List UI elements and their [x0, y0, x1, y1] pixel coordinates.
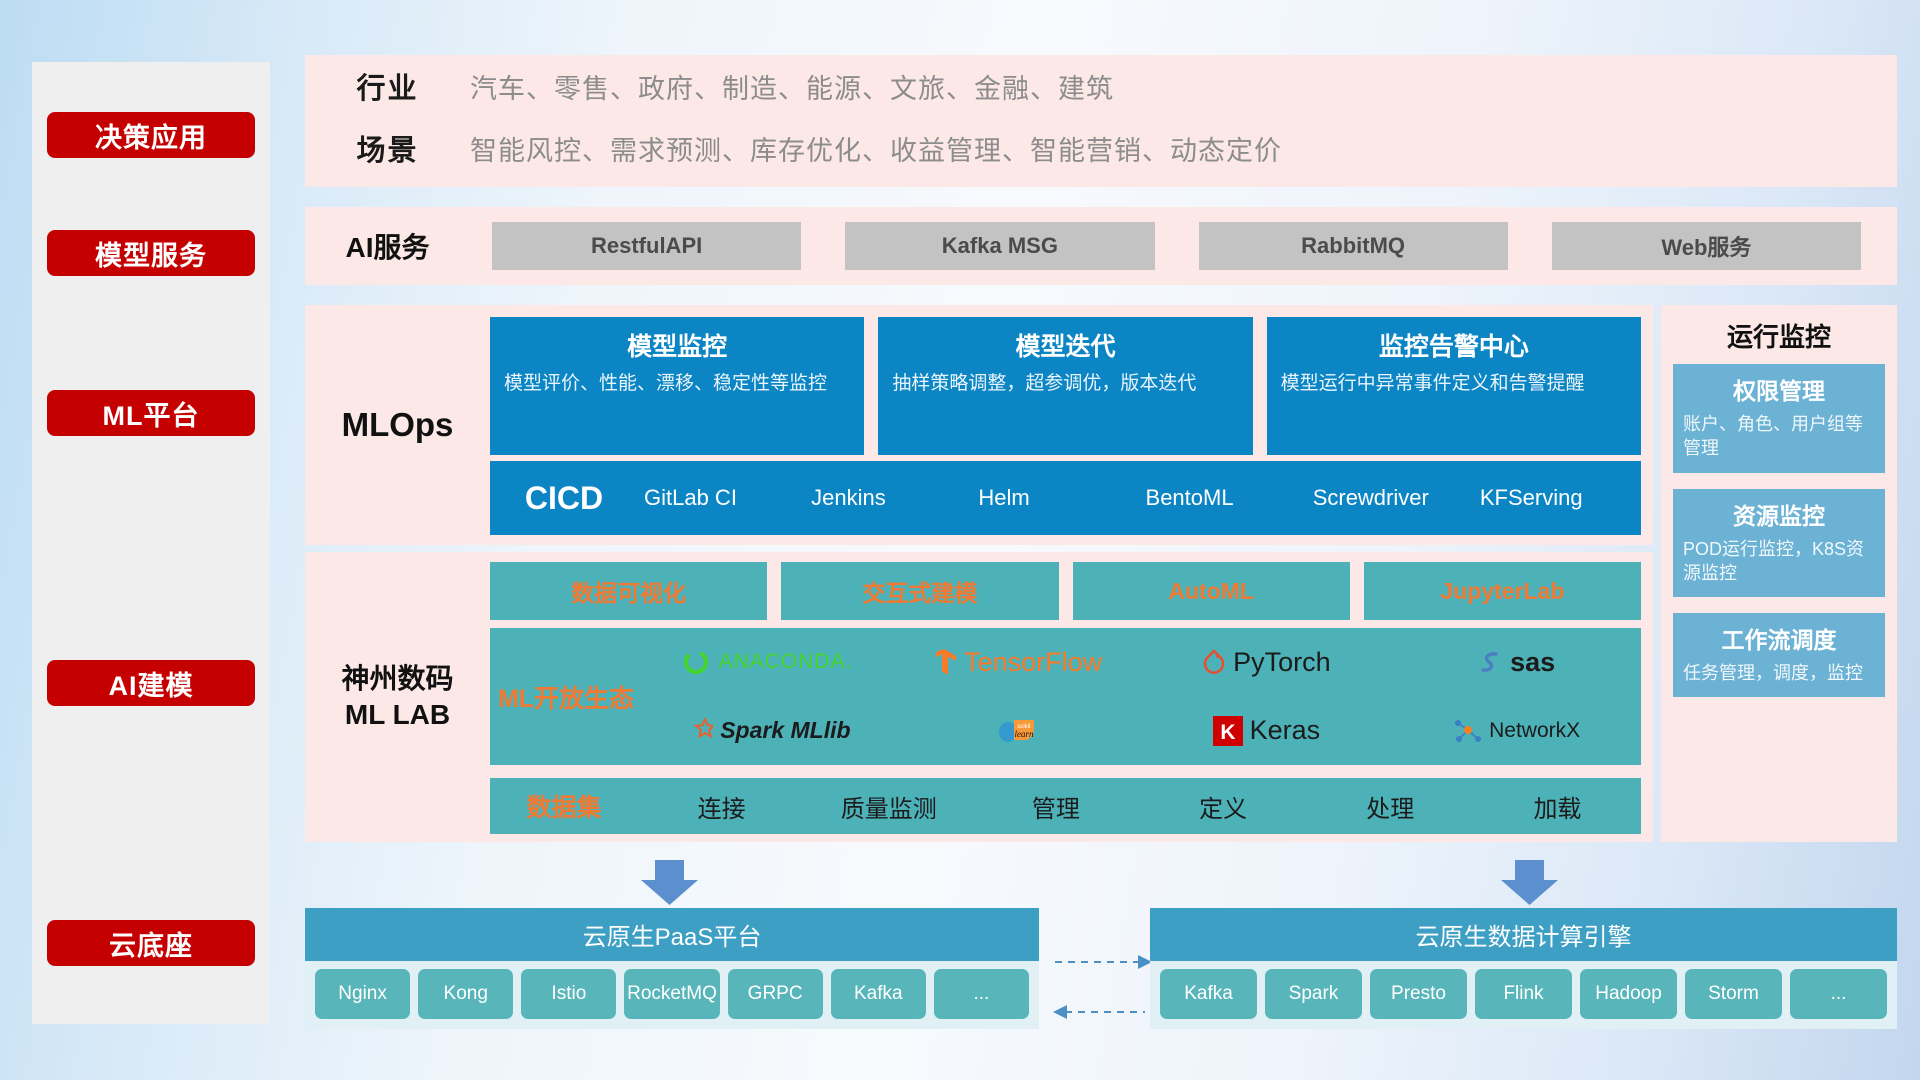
card-title: 权限管理	[1683, 372, 1875, 406]
engine-chip-flink[interactable]: Flink	[1475, 969, 1572, 1019]
layer-rail: 决策应用 模型服务 ML平台 AI建模 云底座	[32, 62, 270, 1024]
applications-band: 行业 汽车、零售、政府、制造、能源、文旅、金融、建筑 场景 智能风控、需求预测、…	[305, 55, 1897, 187]
cloud-paas-block: 云原生PaaS平台 Nginx Kong Istio RocketMQ GRPC…	[305, 908, 1039, 1029]
cicd-item-gitlab[interactable]: GitLab CI	[638, 485, 805, 510]
card-title: 监控告警中心	[1281, 327, 1627, 363]
cicd-item-helm[interactable]: Helm	[972, 485, 1139, 510]
rail-item-ai-modeling[interactable]: AI建模	[47, 660, 255, 706]
scikit-learn-icon: scikit learn	[998, 716, 1036, 746]
ai-service-band: AI服务 RestfulAPI Kafka MSG RabbitMQ Web服务	[305, 207, 1897, 285]
dataset-item-manage[interactable]: 管理	[972, 789, 1139, 824]
dataset-item-load[interactable]: 加载	[1474, 789, 1641, 824]
mlops-card-alert-center[interactable]: 监控告警中心 模型运行中异常事件定义和告警提醒	[1267, 317, 1641, 455]
scenario-label: 场景	[305, 127, 470, 169]
rail-label: 模型服务	[95, 234, 207, 273]
tool-data-visualization[interactable]: 数据可视化	[490, 562, 767, 620]
cicd-item-screwdriver[interactable]: Screwdriver	[1307, 485, 1474, 510]
tool-jupyterlab[interactable]: JupyterLab	[1364, 562, 1641, 620]
dataset-item-define[interactable]: 定义	[1140, 789, 1307, 824]
networkx-icon	[1452, 717, 1482, 745]
service-box-kafka[interactable]: Kafka MSG	[845, 222, 1154, 270]
card-title: 工作流调度	[1683, 621, 1875, 655]
svg-text:K: K	[1220, 721, 1235, 744]
mlops-card-model-monitor[interactable]: 模型监控 模型评价、性能、漂移、稳定性等监控	[490, 317, 864, 455]
card-desc: 抽样策略调整，超参调优，版本迭代	[892, 371, 1238, 397]
card-desc: POD运行监控，K8S资源监控	[1683, 537, 1875, 586]
ai-modeling-band: 神州数码 ML LAB 数据可视化 交互式建模 AutoML JupyterLa…	[305, 552, 1653, 842]
card-title: 模型迭代	[892, 327, 1238, 363]
ai-service-boxes: RestfulAPI Kafka MSG RabbitMQ Web服务	[470, 222, 1897, 270]
engine-chip-more[interactable]: ...	[1790, 969, 1887, 1019]
rail-label: AI建模	[109, 664, 194, 703]
rail-item-decision-app[interactable]: 决策应用	[47, 112, 255, 158]
keras-label: Keras	[1250, 715, 1321, 746]
dataset-label: 数据集	[490, 788, 638, 824]
service-box-restful[interactable]: RestfulAPI	[492, 222, 801, 270]
mlops-band: MLOps 模型监控 模型评价、性能、漂移、稳定性等监控 模型迭代 抽样策略调整…	[305, 305, 1653, 545]
tensorflow-label: TensorFlow	[964, 647, 1102, 678]
scikit-learn-logo: scikit learn	[998, 716, 1036, 746]
spark-icon	[683, 718, 713, 744]
rail-label: 决策应用	[95, 116, 207, 155]
card-title: 模型监控	[504, 327, 850, 363]
keras-icon: K	[1213, 716, 1243, 746]
sas-icon	[1477, 649, 1503, 675]
cicd-strip: CICD GitLab CI Jenkins Helm BentoML Scre…	[490, 461, 1641, 535]
ai-service-label: AI服务	[305, 226, 470, 266]
engine-chip-spark[interactable]: Spark	[1265, 969, 1362, 1019]
svg-text:learn: learn	[1014, 729, 1033, 739]
ml-lab-line2: ML LAB	[345, 697, 450, 733]
sas-label: sas	[1510, 647, 1555, 678]
pytorch-label: PyTorch	[1233, 647, 1331, 678]
networkx-logo: NetworkX	[1452, 717, 1580, 745]
rail-item-cloud-base[interactable]: 云底座	[47, 920, 255, 966]
pytorch-icon	[1202, 648, 1226, 676]
engine-chip-kafka[interactable]: Kafka	[1160, 969, 1257, 1019]
ml-lab-line1: 神州数码	[341, 661, 453, 697]
cicd-label: CICD	[490, 480, 638, 517]
runtime-monitoring-band: 运行监控 权限管理 账户、角色、用户组等管理 资源监控 POD运行监控，K8S资…	[1661, 305, 1897, 842]
cloud-paas-chips: Nginx Kong Istio RocketMQ GRPC Kafka ...	[305, 969, 1039, 1019]
cloud-engine-chips: Kafka Spark Presto Flink Hadoop Storm ..…	[1150, 969, 1897, 1019]
monitor-card-permission[interactable]: 权限管理 账户、角色、用户组等管理	[1673, 364, 1885, 473]
scenario-values: 智能风控、需求预测、库存优化、收益管理、智能营销、动态定价	[470, 129, 1282, 168]
paas-chip-istio[interactable]: Istio	[521, 969, 616, 1019]
card-title: 资源监控	[1683, 497, 1875, 531]
rail-item-ml-platform[interactable]: ML平台	[47, 390, 255, 436]
anaconda-icon	[681, 647, 711, 677]
ml-ecosystem-label: ML开放生态	[490, 679, 642, 715]
dataset-item-connect[interactable]: 连接	[638, 789, 805, 824]
card-desc: 任务管理，调度，监控	[1683, 661, 1875, 685]
scenario-row: 场景 智能风控、需求预测、库存优化、收益管理、智能营销、动态定价	[305, 117, 1897, 179]
monitor-card-resource[interactable]: 资源监控 POD运行监控，K8S资源监控	[1673, 489, 1885, 598]
card-desc: 模型运行中异常事件定义和告警提醒	[1281, 371, 1627, 397]
service-box-rabbitmq[interactable]: RabbitMQ	[1199, 222, 1508, 270]
dataset-item-quality[interactable]: 质量监测	[805, 789, 972, 824]
paas-chip-rocketmq[interactable]: RocketMQ	[624, 969, 719, 1019]
anaconda-logo: ANACONDA.	[681, 647, 852, 677]
ml-lab-label: 神州数码 ML LAB	[305, 552, 490, 842]
spark-mllib-logo: Spark MLlib	[683, 717, 850, 744]
monitor-card-workflow[interactable]: 工作流调度 任务管理，调度，监控	[1673, 613, 1885, 697]
spark-mllib-label: Spark MLlib	[720, 717, 850, 744]
tool-interactive-modeling[interactable]: 交互式建模	[781, 562, 1058, 620]
sas-logo: sas	[1477, 647, 1555, 678]
keras-logo: K Keras	[1213, 715, 1321, 746]
monitoring-title: 运行监控	[1661, 305, 1897, 364]
tool-automl[interactable]: AutoML	[1073, 562, 1350, 620]
pytorch-logo: PyTorch	[1202, 647, 1331, 678]
industry-label: 行业	[305, 65, 470, 107]
tensorflow-logo: TensorFlow	[931, 647, 1102, 678]
tensorflow-icon	[931, 647, 957, 677]
industry-row: 行业 汽车、零售、政府、制造、能源、文旅、金融、建筑	[305, 55, 1897, 117]
mlops-card-list: 模型监控 模型评价、性能、漂移、稳定性等监控 模型迭代 抽样策略调整，超参调优，…	[490, 317, 1641, 455]
paas-chip-kong[interactable]: Kong	[418, 969, 513, 1019]
paas-chip-nginx[interactable]: Nginx	[315, 969, 410, 1019]
dataset-item-process[interactable]: 处理	[1307, 789, 1474, 824]
paas-chip-grpc[interactable]: GRPC	[728, 969, 823, 1019]
cloud-paas-title: 云原生PaaS平台	[305, 908, 1039, 961]
paas-chip-kafka[interactable]: Kafka	[831, 969, 926, 1019]
card-desc: 账户、角色、用户组等管理	[1683, 412, 1875, 461]
cicd-item-bentoml[interactable]: BentoML	[1140, 485, 1307, 510]
paas-chip-more[interactable]: ...	[934, 969, 1029, 1019]
dataset-strip: 数据集 连接 质量监测 管理 定义 处理 加载	[490, 778, 1641, 834]
mlops-label: MLOps	[305, 305, 490, 545]
rail-label: 云底座	[109, 924, 193, 963]
cloud-engine-title: 云原生数据计算引擎	[1150, 908, 1897, 961]
engine-chip-hadoop[interactable]: Hadoop	[1580, 969, 1677, 1019]
industry-values: 汽车、零售、政府、制造、能源、文旅、金融、建筑	[470, 67, 1114, 106]
anaconda-label: ANACONDA.	[718, 650, 852, 674]
cloud-engine-block: 云原生数据计算引擎 Kafka Spark Presto Flink Hadoo…	[1150, 908, 1897, 1029]
networkx-label: NetworkX	[1489, 719, 1580, 743]
modeling-tool-row: 数据可视化 交互式建模 AutoML JupyterLab	[490, 562, 1641, 620]
engine-chip-storm[interactable]: Storm	[1685, 969, 1782, 1019]
rail-item-model-service[interactable]: 模型服务	[47, 230, 255, 276]
ml-ecosystem-strip: ML开放生态 ANACONDA. TensorFlow	[490, 628, 1641, 765]
cicd-item-kfserving[interactable]: KFServing	[1474, 485, 1641, 510]
mlops-card-model-iteration[interactable]: 模型迭代 抽样策略调整，超参调优，版本迭代	[878, 317, 1252, 455]
ml-ecosystem-logos: ANACONDA. TensorFlow PyTorch	[642, 628, 1641, 765]
rail-label: ML平台	[103, 394, 200, 433]
service-box-web[interactable]: Web服务	[1552, 222, 1861, 270]
engine-chip-presto[interactable]: Presto	[1370, 969, 1467, 1019]
cicd-item-jenkins[interactable]: Jenkins	[805, 485, 972, 510]
card-desc: 模型评价、性能、漂移、稳定性等监控	[504, 371, 850, 397]
